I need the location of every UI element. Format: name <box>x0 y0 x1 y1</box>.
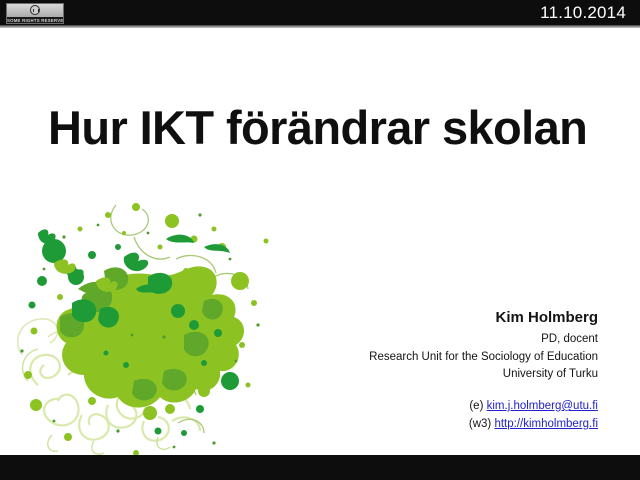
author-department: Research Unit for the Sociology of Educa… <box>298 349 598 366</box>
contact-web-line: (w3) http://kimholmberg.fi <box>278 416 598 434</box>
email-link[interactable]: kim.j.holmberg@utu.fi <box>487 400 598 412</box>
page-title: Hur IKT förändrar skolan <box>48 103 608 152</box>
author-name: Kim Holmberg <box>298 308 598 328</box>
author-institution: University of Turku <box>298 366 598 383</box>
website-link[interactable]: http://kimholmberg.fi <box>494 418 598 430</box>
cc-badge-caption: SOME RIGHTS RESERVED <box>7 17 63 24</box>
creative-commons-icon <box>30 5 40 15</box>
author-block: Kim Holmberg PD, docent Research Unit fo… <box>298 308 598 383</box>
creative-commons-badge[interactable]: SOME RIGHTS RESERVED <box>6 3 64 24</box>
cc-badge-upper <box>7 4 63 17</box>
slide-date: 11.10.2014 <box>540 3 626 23</box>
contact-email-line: (e) kim.j.holmberg@utu.fi <box>278 398 598 416</box>
green-paint-splatter-graphic <box>8 185 308 457</box>
author-role: PD, docent <box>298 331 598 348</box>
slide-bottom-bar <box>0 455 640 480</box>
web-prefix-label: (w3) <box>469 418 491 430</box>
top-bar-divider <box>0 25 640 28</box>
email-prefix-label: (e) <box>469 400 483 412</box>
contact-block: (e) kim.j.holmberg@utu.fi (w3) http://ki… <box>278 398 598 434</box>
presentation-slide: SOME RIGHTS RESERVED 11.10.2014 Hur IKT … <box>0 0 640 480</box>
